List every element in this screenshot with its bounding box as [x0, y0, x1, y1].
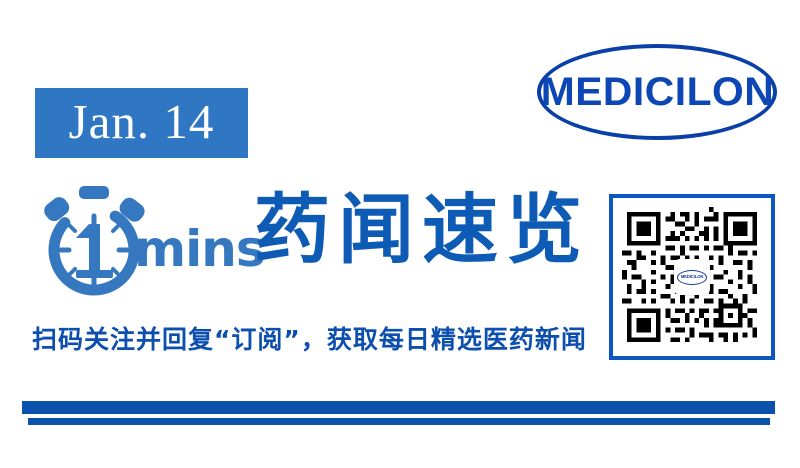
headline-block: mins 药闻速览	[36, 186, 566, 298]
medicilon-logo: MEDICILON	[537, 44, 777, 140]
headline-title-cn: 药闻速览	[254, 192, 590, 268]
subtitle-text: 扫码关注并回复“订阅”，获取每日精选医药新闻	[32, 325, 587, 355]
brand-name-text: MEDICILON	[540, 72, 774, 112]
qr-code-image[interactable]: MEDICILON	[622, 207, 762, 347]
footer-rule-thick	[22, 401, 775, 414]
qr-code-frame[interactable]: MEDICILON	[609, 194, 775, 360]
footer-rule-thin	[28, 418, 770, 425]
qr-center-brand-logo: MEDICILON	[674, 259, 710, 295]
poster-root: MEDICILON Jan. 14	[0, 0, 800, 468]
mins-label: mins	[134, 224, 265, 274]
qr-center-brand-text: MEDICILON	[681, 275, 704, 279]
date-badge: Jan. 14	[35, 88, 248, 158]
date-badge-label: Jan. 14	[69, 97, 215, 150]
qr-center-ellipse: MEDICILON	[677, 270, 707, 285]
